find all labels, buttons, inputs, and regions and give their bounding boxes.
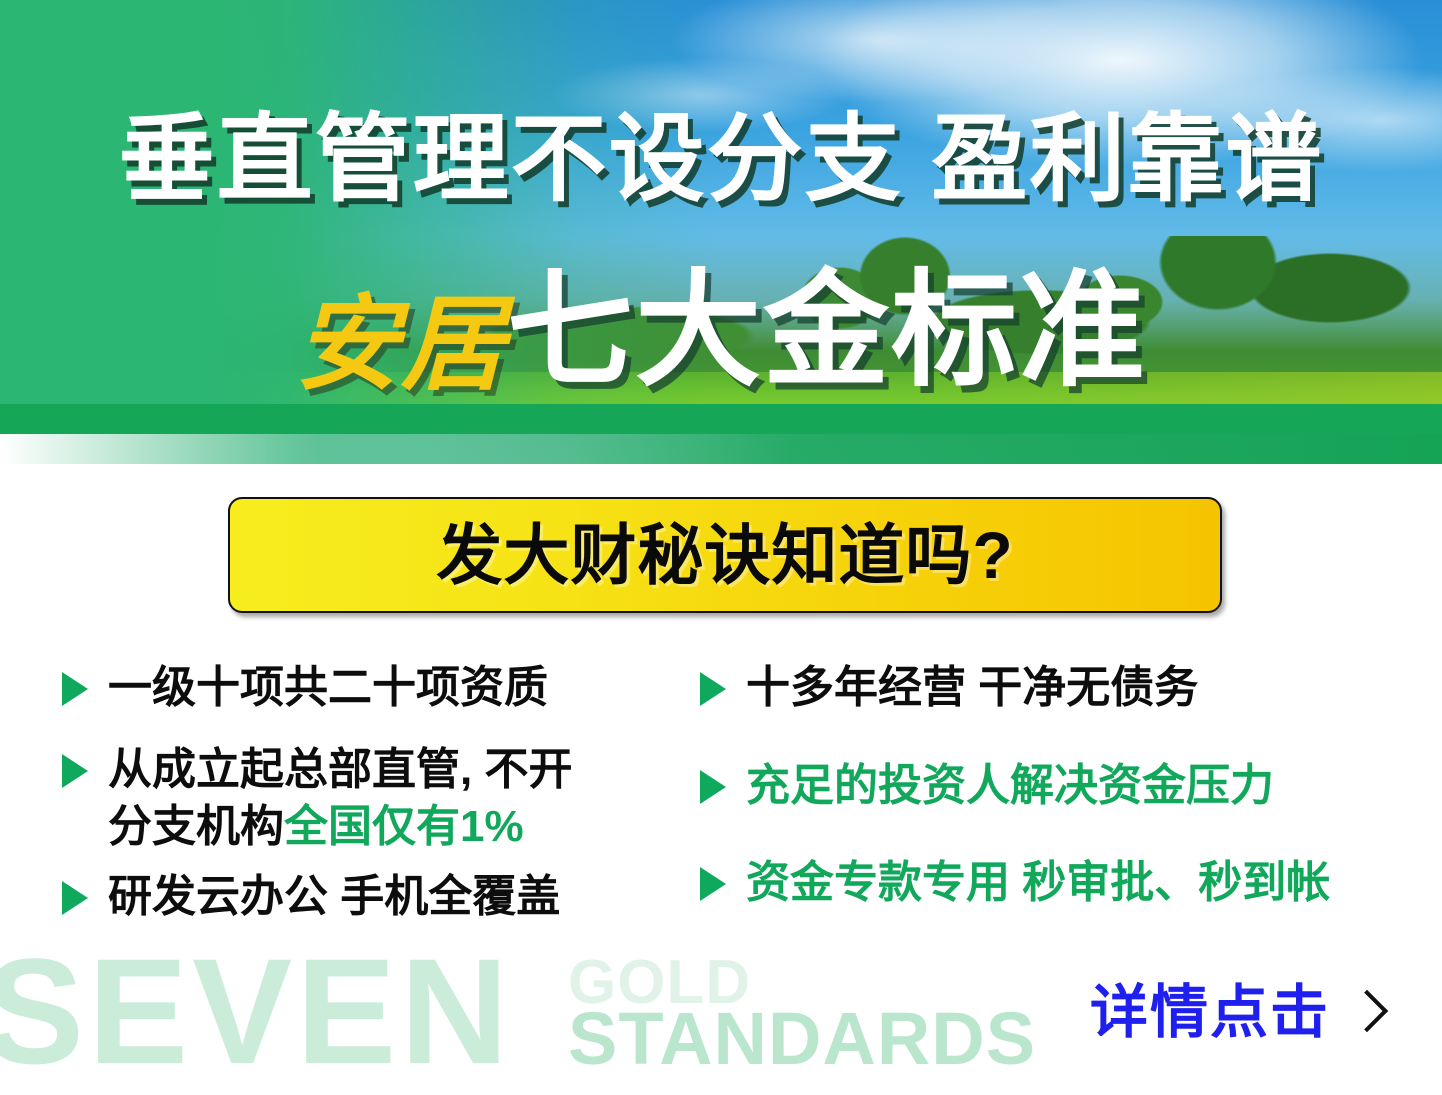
list-item: 十多年经营 干净无债务	[700, 660, 1400, 716]
triangle-bullet-icon	[700, 672, 726, 706]
detail-link-label: 详情点击	[1090, 984, 1330, 1042]
features-section: 一级十项共二十项资质 从成立起总部直管, 不开分支机构全国仅有1% 研发云办公 …	[0, 660, 1442, 1020]
detail-link[interactable]: 详情点击	[1090, 984, 1382, 1042]
triangle-bullet-icon	[700, 770, 726, 804]
features-right-column: 十多年经营 干净无债务 充足的投资人解决资金压力 资金专款专用 秒审批、秒到帐	[700, 660, 1400, 925]
hero-subline-main: 七大金标准	[507, 260, 1147, 401]
list-item: 研发云办公 手机全覆盖	[62, 869, 682, 925]
features-left-column: 一级十项共二十项资质 从成立起总部直管, 不开分支机构全国仅有1% 研发云办公 …	[62, 660, 682, 939]
feature-text: 研发云办公 手机全覆盖	[108, 869, 560, 925]
feature-text-highlight: 全国仅有1%	[284, 802, 524, 851]
feature-text-line2: 分支机构	[108, 802, 284, 851]
feature-text: 资金专款专用 秒审批、秒到帐	[746, 855, 1330, 911]
hero-subline: 安居七大金标准	[0, 268, 1442, 396]
feature-text-line1: 从成立起总部直管, 不开	[108, 745, 572, 794]
triangle-bullet-icon	[62, 754, 88, 788]
chevron-right-icon	[1346, 990, 1388, 1032]
triangle-bullet-icon	[62, 881, 88, 915]
highlight-question-text: 发大财秘诀知道吗?	[436, 522, 1013, 588]
feature-text: 从成立起总部直管, 不开分支机构全国仅有1%	[108, 742, 572, 855]
feature-text: 十多年经营 干净无债务	[746, 660, 1198, 716]
hero-brand-text: 安居	[295, 282, 507, 405]
hero-headline: 垂直管理不设分支 盈利靠谱	[0, 112, 1442, 208]
list-item: 资金专款专用 秒审批、秒到帐	[700, 855, 1400, 911]
list-item: 一级十项共二十项资质	[62, 660, 682, 716]
highlight-question-box[interactable]: 发大财秘诀知道吗?	[228, 497, 1222, 613]
triangle-bullet-icon	[62, 672, 88, 706]
list-item: 从成立起总部直管, 不开分支机构全国仅有1%	[62, 742, 682, 855]
hero-text-group: 垂直管理不设分支 盈利靠谱 安居七大金标准	[0, 0, 1442, 464]
list-item: 充足的投资人解决资金压力	[700, 758, 1400, 814]
hero-banner: 垂直管理不设分支 盈利靠谱 安居七大金标准	[0, 0, 1442, 464]
triangle-bullet-icon	[700, 867, 726, 901]
feature-text: 充足的投资人解决资金压力	[746, 758, 1274, 814]
feature-text: 一级十项共二十项资质	[108, 660, 548, 716]
